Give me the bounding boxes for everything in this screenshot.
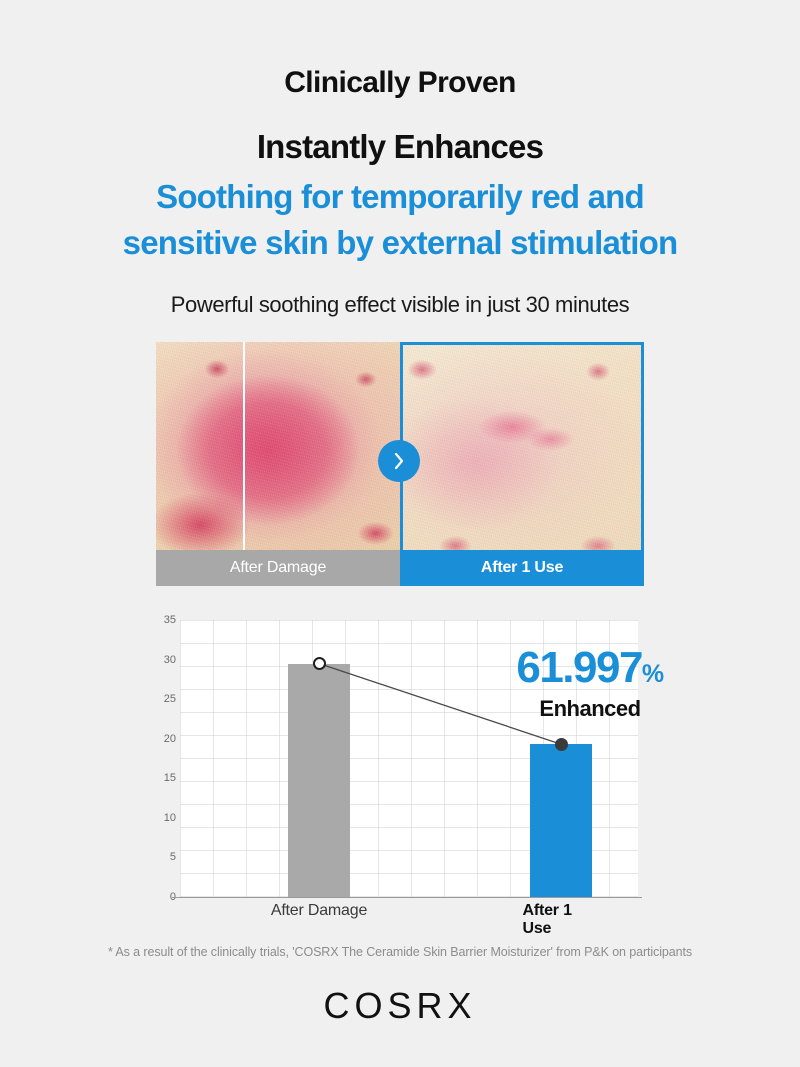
enhancement-percentage-value: 61.997 <box>516 643 642 692</box>
comparison-label-after: After 1 Use <box>403 550 641 586</box>
y-tick-35: 35 <box>142 614 176 626</box>
y-tick-0: 0 <box>142 891 176 903</box>
chart-baseline-axis <box>172 897 642 898</box>
enhancement-caption: Enhanced <box>480 696 700 722</box>
comparison-label-before: After Damage <box>156 550 400 586</box>
comparison-panel-before: After Damage <box>156 342 400 586</box>
skin-photo-after-1-use <box>403 345 641 550</box>
percent-symbol: % <box>642 660 664 688</box>
y-tick-25: 25 <box>142 693 176 705</box>
chevron-right-icon[interactable] <box>378 440 420 482</box>
y-tick-5: 5 <box>142 851 176 863</box>
data-point-marker-after-damage <box>313 657 326 670</box>
comparison-panel-after: After 1 Use <box>400 342 644 586</box>
study-footnote: * As a result of the clinically trials, … <box>0 945 800 959</box>
product-claim-page: Clinically Proven Instantly Enhances Soo… <box>0 0 800 1067</box>
subheading: Powerful soothing effect visible in just… <box>0 292 800 318</box>
results-bar-chart: 0 5 10 15 20 25 30 35 61.997% Enhanced <box>140 610 660 930</box>
headline-primary: Instantly Enhances <box>0 128 800 166</box>
headline-secondary: Soothing for temporarily red and sensiti… <box>0 174 800 266</box>
y-tick-30: 30 <box>142 654 176 666</box>
chart-x-axis: After Damage After 1 Use <box>180 902 638 932</box>
y-tick-15: 15 <box>142 772 176 784</box>
chart-plot-area: 61.997% Enhanced <box>180 620 638 897</box>
skin-photo-after-damage <box>156 342 400 550</box>
x-label-after-1-use: After 1 Use <box>523 902 600 938</box>
x-label-after-damage: After Damage <box>271 902 367 920</box>
comparison-divider <box>243 342 245 550</box>
eyebrow-heading: Clinically Proven <box>0 66 800 100</box>
y-tick-20: 20 <box>142 733 176 745</box>
chart-y-axis: 0 5 10 15 20 25 30 35 <box>140 610 176 907</box>
data-point-marker-after-1-use <box>555 738 568 751</box>
brand-logo: COSRX <box>0 985 800 1027</box>
y-tick-10: 10 <box>142 812 176 824</box>
enhancement-percentage: 61.997% <box>480 646 700 690</box>
